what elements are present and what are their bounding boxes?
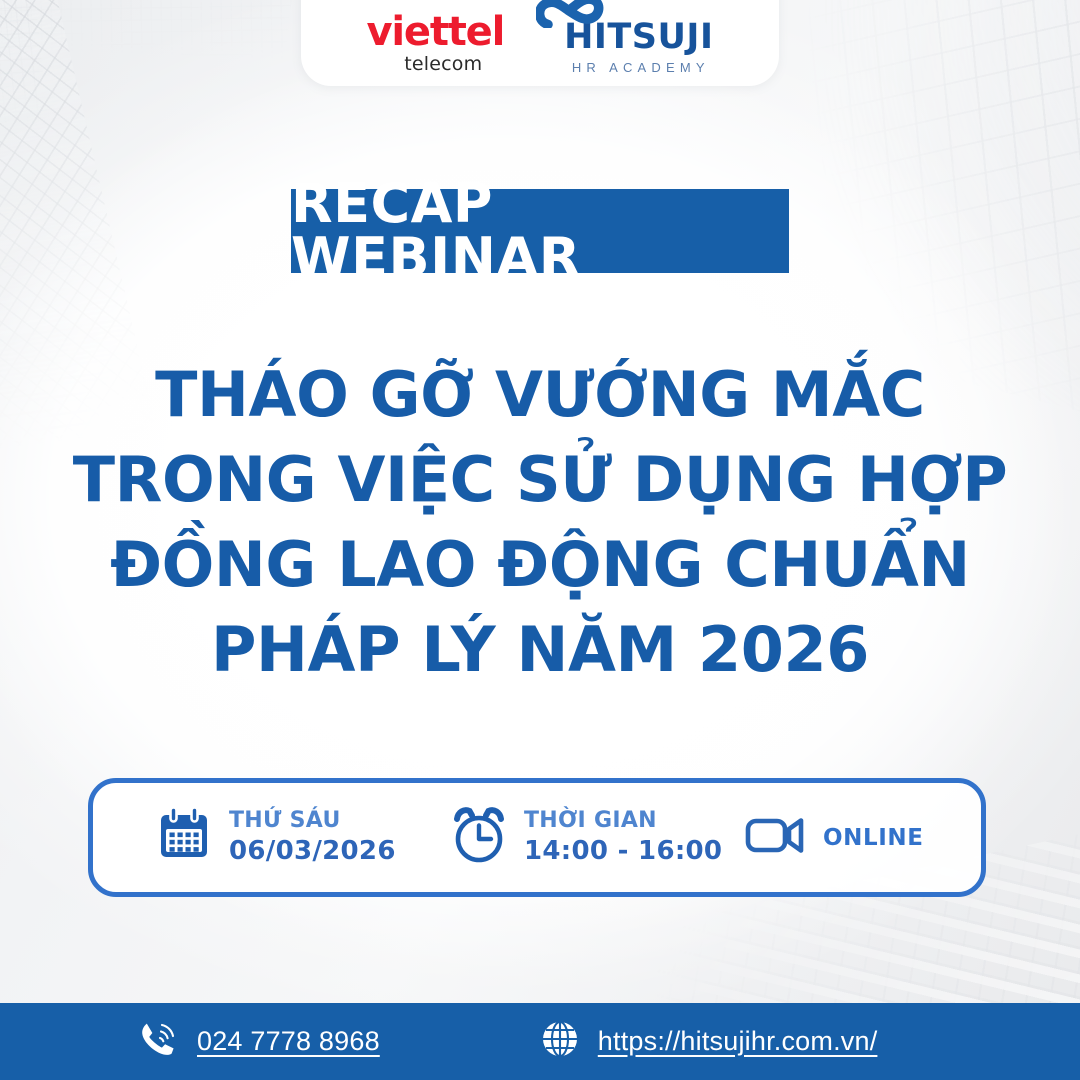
info-item-date: THỨ SÁU 06/03/2026 xyxy=(155,806,450,869)
event-info-bar: THỨ SÁU 06/03/2026 THỜI GIAN 14:00 - 16:… xyxy=(88,778,986,897)
date-text-group: THỨ SÁU 06/03/2026 xyxy=(229,809,396,866)
viettel-wordmark: viettel xyxy=(367,12,505,52)
webinar-poster: viettel telecom HITSUJI HR ACADEMY RECAP… xyxy=(0,0,1080,1080)
time-text-group: THỜI GIAN 14:00 - 16:00 xyxy=(524,809,722,866)
title-line-2: TRONG VIỆC SỬ DỤNG HỢP xyxy=(0,437,1080,522)
video-camera-icon xyxy=(745,813,807,862)
title-line-3: ĐỒNG LAO ĐỘNG CHUẨN xyxy=(0,522,1080,607)
info-item-time: THỜI GIAN 14:00 - 16:00 xyxy=(450,806,745,869)
hitsuji-logo: HITSUJI HR ACADEMY xyxy=(538,20,713,76)
title-line-1: THÁO GỠ VƯỚNG MẮC xyxy=(0,352,1080,437)
info-item-online: ONLINE xyxy=(745,813,981,862)
viettel-logo: viettel telecom xyxy=(367,12,505,76)
footer-website[interactable]: https://hitsujihr.com.vn/ xyxy=(540,1019,878,1064)
title-line-4: PHÁP LÝ NĂM 2026 xyxy=(0,607,1080,692)
date-label: THỨ SÁU xyxy=(229,809,396,834)
date-value: 06/03/2026 xyxy=(229,837,396,866)
hitsuji-infinity-people-icon xyxy=(536,0,604,32)
recap-webinar-banner: RECAP WEBINAR xyxy=(291,189,789,273)
recap-webinar-label: RECAP WEBINAR xyxy=(291,177,789,285)
logo-header-pill: viettel telecom HITSUJI HR ACADEMY xyxy=(301,0,779,86)
website-url[interactable]: https://hitsujihr.com.vn/ xyxy=(598,1026,878,1057)
contact-footer: 024 7778 8968 https://hitsujihr.com.vn/ xyxy=(0,1003,1080,1080)
hitsuji-sub-label: HR ACADEMY xyxy=(572,61,710,74)
phone-icon xyxy=(137,1018,179,1065)
alarm-clock-icon xyxy=(450,806,508,869)
globe-icon xyxy=(540,1019,580,1064)
footer-phone[interactable]: 024 7778 8968 xyxy=(137,1018,380,1065)
page-title: THÁO GỠ VƯỚNG MẮC TRONG VIỆC SỬ DỤNG HỢP… xyxy=(0,352,1080,692)
time-label: THỜI GIAN xyxy=(524,809,722,834)
time-value: 14:00 - 16:00 xyxy=(524,837,722,866)
phone-number[interactable]: 024 7778 8968 xyxy=(197,1026,380,1057)
online-label: ONLINE xyxy=(823,825,924,851)
calendar-icon xyxy=(155,806,213,869)
viettel-sub-label: telecom xyxy=(404,55,482,74)
